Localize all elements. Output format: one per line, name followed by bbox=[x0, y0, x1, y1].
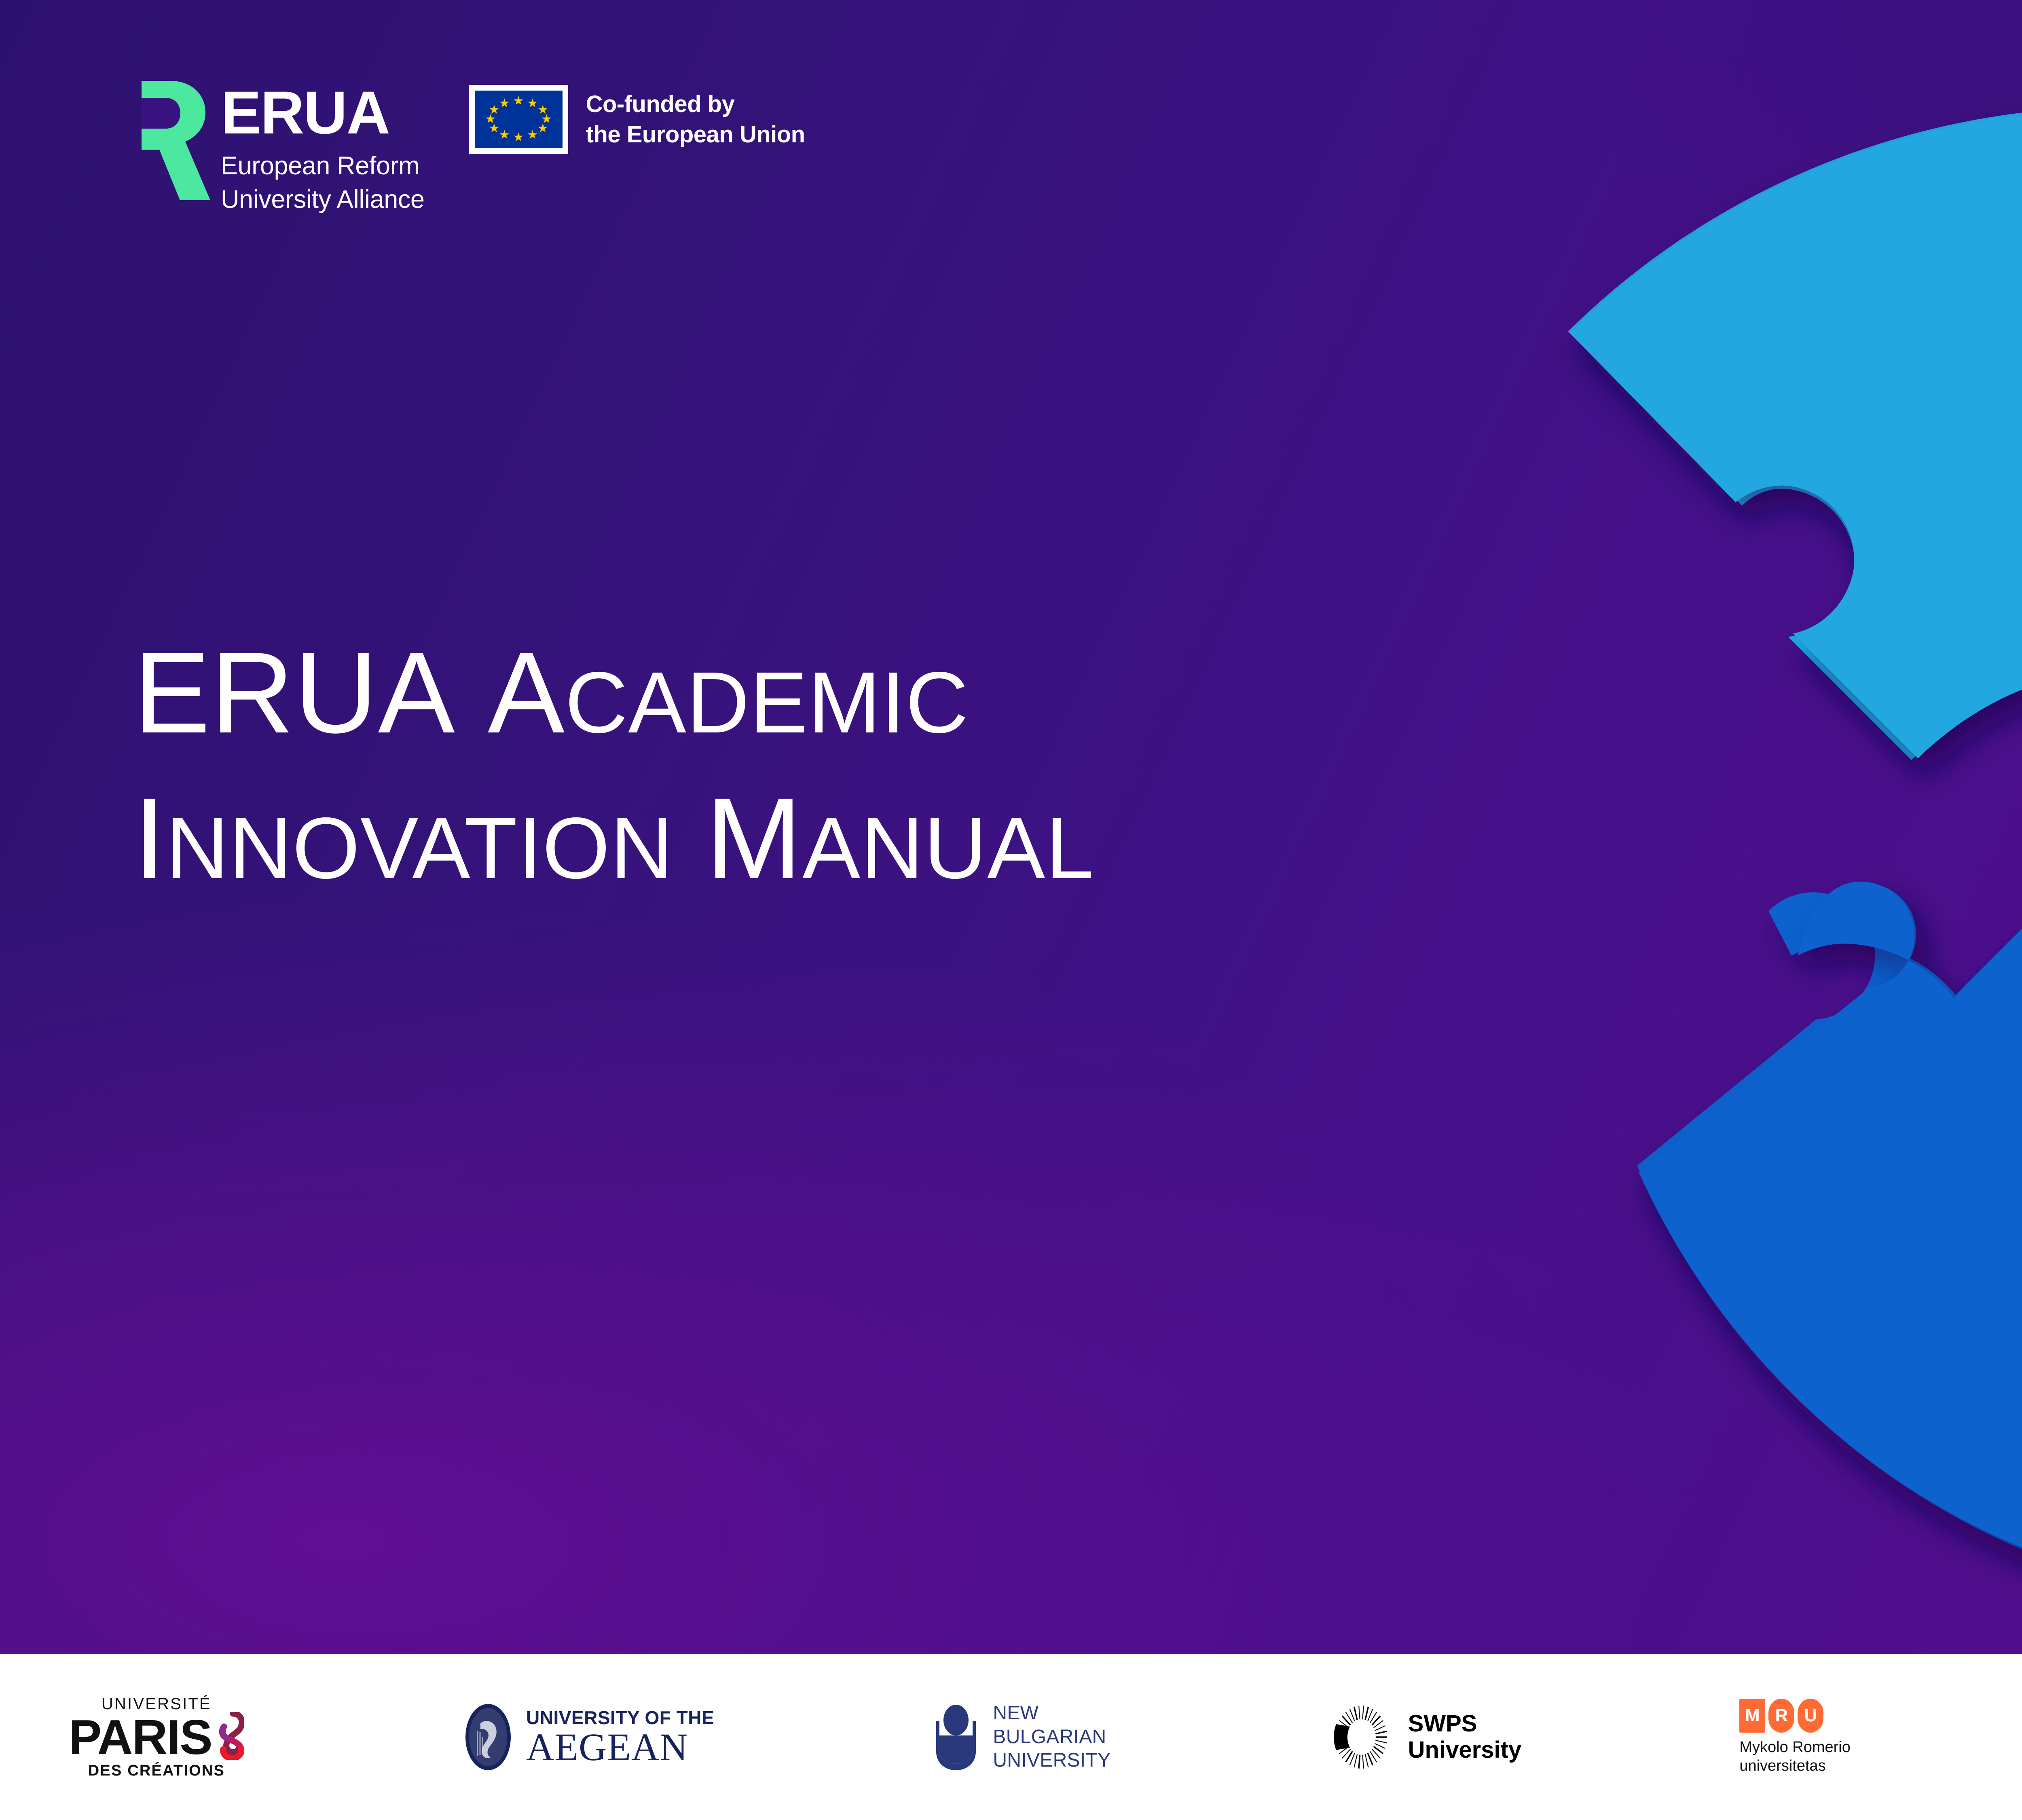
swps-ray bbox=[1375, 1726, 1385, 1731]
title-academic-rest: CADEMIC bbox=[565, 654, 969, 751]
eu-text-line2: the European Union bbox=[586, 121, 805, 148]
swps-ray bbox=[1375, 1731, 1386, 1734]
eu-star-icon: ★ bbox=[499, 98, 510, 109]
cover-page: ERUA European Reform University Alliance… bbox=[0, 0, 2022, 1820]
partner-logo-swps: SWPS University bbox=[1329, 1705, 1521, 1769]
mru-tiles-icon: M R U bbox=[1739, 1699, 1823, 1733]
mru-line1: Mykolo Romerio bbox=[1739, 1739, 1851, 1756]
eu-star-icon: ★ bbox=[527, 129, 538, 141]
brand-bar: ERUA European Reform University Alliance… bbox=[142, 81, 805, 216]
eu-star-icon: ★ bbox=[489, 104, 500, 116]
swps-ray bbox=[1354, 1707, 1357, 1720]
nbu-line3: UNIVERSITY bbox=[993, 1749, 1110, 1773]
paris8-main-text: PARIS bbox=[69, 1714, 212, 1760]
partner-logo-aegean: UNIVERSITY OF THE AEGEAN bbox=[462, 1702, 714, 1772]
partner-logo-nbu: NEW BULGARIAN UNIVERSITY bbox=[932, 1701, 1110, 1773]
swps-burst-icon bbox=[1329, 1705, 1394, 1769]
nbu-line1: NEW bbox=[993, 1701, 1110, 1725]
title-erua: ERUA bbox=[133, 629, 455, 757]
partner-logo-paris8: UNIVERSITÉ PARIS DES CRÉATIONS bbox=[69, 1696, 244, 1778]
page-title-line-2: INNOVATION MANUAL bbox=[133, 777, 1094, 901]
eu-flag-icon: ★★★★★★★★★★★★ bbox=[469, 85, 568, 154]
mru-tile-r: R bbox=[1768, 1699, 1794, 1733]
title-innovation-initial: I bbox=[133, 774, 166, 903]
swps-line2: University bbox=[1408, 1737, 1521, 1763]
eu-funding-logo: ★★★★★★★★★★★★ Co-funded by the European U… bbox=[469, 81, 805, 154]
eu-star-icon: ★ bbox=[499, 129, 510, 141]
erua-tagline-line1: European Reform bbox=[221, 152, 419, 180]
partner-logo-footer: UNIVERSITÉ PARIS DES CRÉATIONS bbox=[0, 1654, 2022, 1820]
swps-ray bbox=[1365, 1754, 1368, 1767]
title-manual-rest: ANUAL bbox=[802, 799, 1094, 897]
title-academic-initial: A bbox=[488, 629, 565, 757]
paris8-infinity-icon bbox=[213, 1712, 244, 1760]
eu-star-icon: ★ bbox=[537, 123, 548, 134]
circular-jigsaw-puzzle-icon bbox=[1294, 16, 2022, 1658]
swps-ray bbox=[1362, 1755, 1364, 1769]
eu-star-icon: ★ bbox=[513, 132, 524, 143]
swps-line1: SWPS bbox=[1408, 1711, 1521, 1737]
swps-ray bbox=[1359, 1755, 1360, 1769]
mru-tile-m: M bbox=[1739, 1699, 1765, 1733]
eu-text-line1: Co-funded by bbox=[586, 91, 735, 117]
paris8-bottom-text: DES CRÉATIONS bbox=[88, 1763, 225, 1778]
title-innovation-rest: NNOVATION bbox=[166, 799, 673, 897]
nbu-line2: BULGARIAN bbox=[993, 1725, 1110, 1749]
swps-ray bbox=[1365, 1707, 1368, 1720]
title-manual-initial: M bbox=[706, 774, 802, 903]
aegean-line2: AEGEAN bbox=[526, 1729, 714, 1766]
page-title-line-1: ERUA ACADEMIC bbox=[133, 631, 1094, 756]
erua-logo: ERUA European Reform University Alliance bbox=[142, 81, 425, 216]
partner-logo-mru: M R U Mykolo Romerio universitetas bbox=[1739, 1699, 1851, 1775]
swps-ray bbox=[1362, 1706, 1364, 1719]
swps-ray bbox=[1359, 1706, 1360, 1719]
eu-star-icon: ★ bbox=[513, 95, 524, 107]
aegean-line1: UNIVERSITY OF THE bbox=[526, 1708, 714, 1727]
swps-ray bbox=[1354, 1754, 1357, 1767]
page-title: ERUA ACADEMIC INNOVATION MANUAL bbox=[133, 631, 1094, 901]
aegean-seal-icon bbox=[462, 1702, 514, 1772]
swps-ray bbox=[1375, 1740, 1386, 1743]
mru-tile-u: U bbox=[1798, 1699, 1823, 1733]
erua-wordmark: ERUA bbox=[221, 82, 425, 144]
mru-line2: universitetas bbox=[1739, 1757, 1825, 1774]
erua-r-mark-icon bbox=[142, 81, 210, 200]
erua-tagline-line2: University Alliance bbox=[221, 185, 425, 214]
nbu-oval-icon bbox=[932, 1703, 980, 1771]
eu-star-icon: ★ bbox=[527, 98, 538, 109]
